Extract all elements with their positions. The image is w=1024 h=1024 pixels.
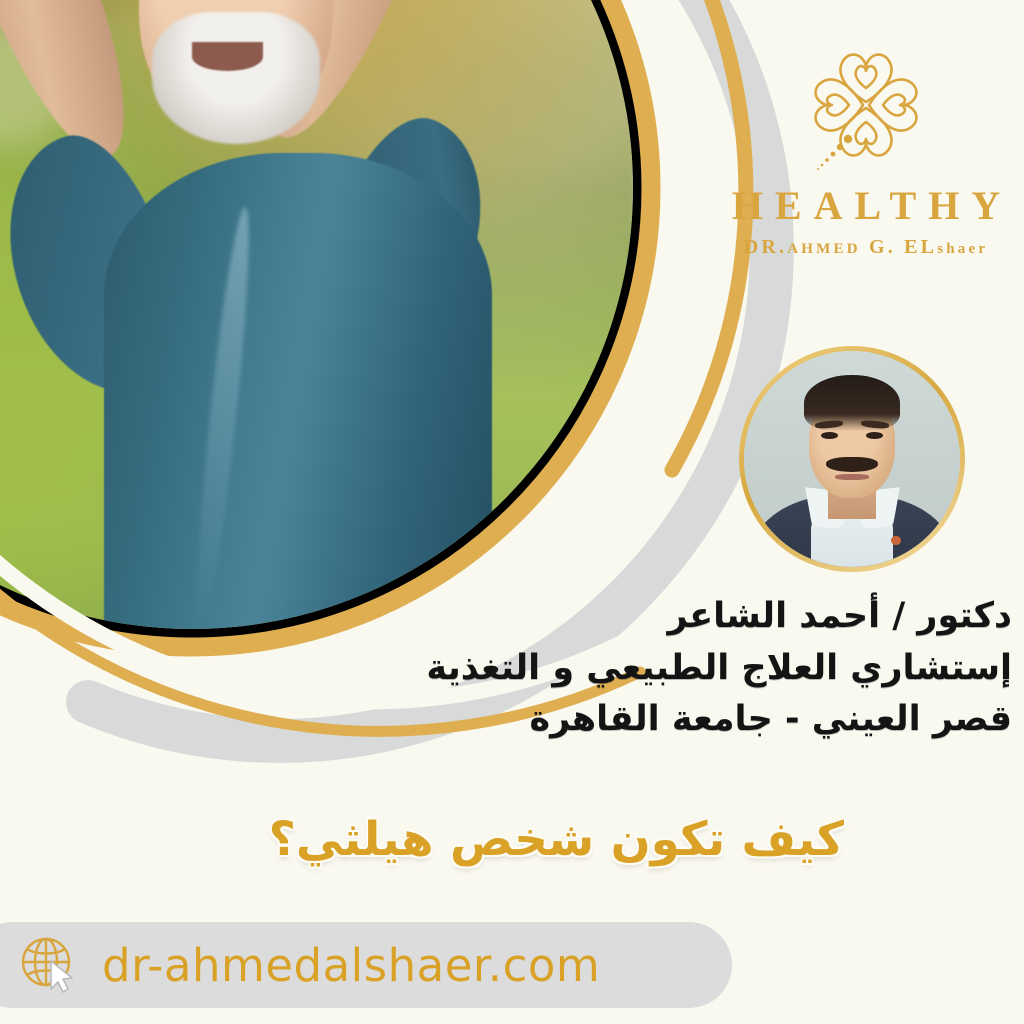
person-figure (0, 0, 633, 629)
poster-canvas: HEALTHY DR.AHMED G. ELshaer دكتور / أحمد… (0, 0, 1024, 1024)
hero-photo-circle (0, 0, 642, 638)
logo-sub-name: AHMED (787, 241, 861, 257)
logo-sub-tail: shaer (937, 241, 988, 257)
doctor-ahmed-elshaer-portrait-photo (744, 351, 960, 567)
senior-man-stretching-outdoors-photo (0, 0, 633, 629)
logo-sub-el: EL (904, 236, 937, 258)
headline-question: كيف تكون شخص هيلثي؟ (269, 812, 844, 867)
website-footer-bar[interactable]: dr-ahmedalshaer.com (0, 922, 732, 1008)
torso-teal-shirt (104, 153, 492, 629)
logo-subtitle: DR.AHMED G. ELshaer (716, 236, 1016, 259)
white-beard (152, 12, 320, 144)
logo-wordmark: HEALTHY (716, 182, 1016, 229)
doctor-affiliation-line: قصر العيني - جامعة القاهرة (252, 697, 1012, 743)
website-url-text[interactable]: dr-ahmedalshaer.com (102, 939, 600, 992)
globe-cursor-icon (18, 934, 80, 996)
doctor-portrait-circle (739, 346, 965, 572)
brand-logo: HEALTHY DR.AHMED G. ELshaer (716, 30, 1016, 259)
doctor-name-line: دكتور / أحمد الشاعر (252, 594, 1012, 640)
logo-sub-prefix: DR. (744, 236, 788, 258)
doctor-info-block: دكتور / أحمد الشاعر إستشاري العلاج الطبي… (252, 594, 1012, 743)
hero-photo-clip (0, 0, 633, 629)
smiling-mouth (192, 42, 263, 70)
moustache (826, 457, 878, 472)
logo-sub-gap: G. (861, 236, 904, 258)
portrait-mouth (835, 474, 870, 480)
lapel-pin (891, 536, 901, 546)
four-heart-clover-logo-icon (791, 30, 941, 180)
doctor-specialty-line: إستشاري العلاج الطبيعي و التغذية (252, 646, 1012, 692)
